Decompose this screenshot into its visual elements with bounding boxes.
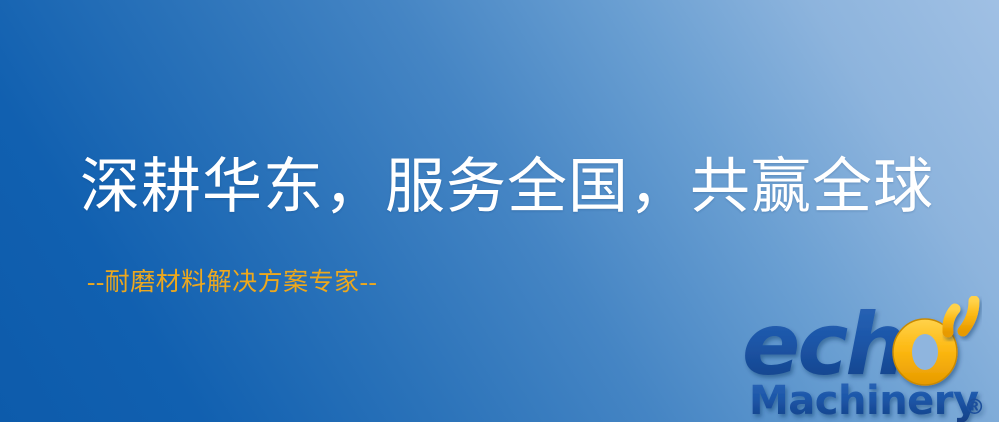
logo-machinery-text: Machinery [749, 378, 979, 422]
logo-tagline: Machinery ® [749, 378, 985, 422]
banner-headline: 深耕华东，服务全国，共赢全球 [80, 152, 934, 222]
banner-subtitle: --耐磨材料解决方案专家-- [87, 268, 377, 298]
echo-machinery-logo[interactable]: ech Machinery ® [742, 296, 999, 422]
logo-registered-mark: ® [964, 395, 985, 419]
logo-signal-arcs-icon [948, 301, 974, 332]
hero-banner: 深耕华东，服务全国，共赢全球 --耐磨材料解决方案专家-- [0, 0, 999, 422]
